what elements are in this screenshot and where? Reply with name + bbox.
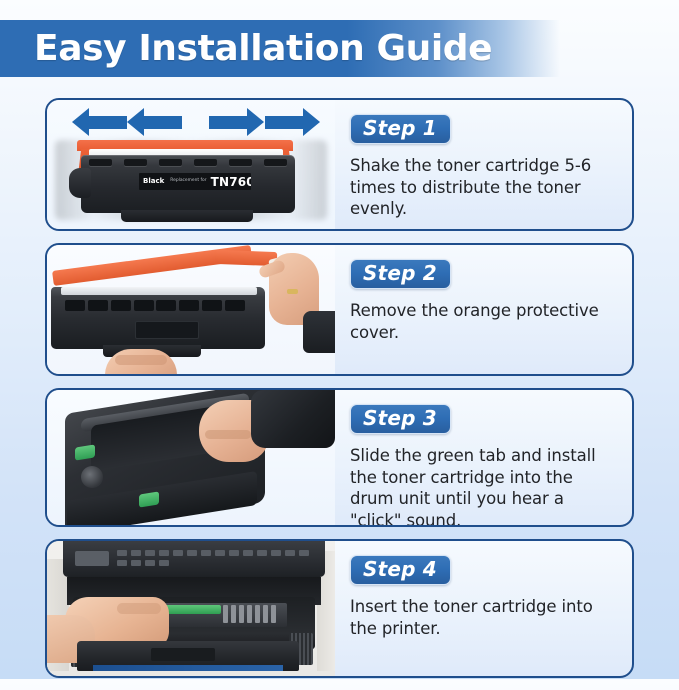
steps-list: Black Replacement for TN760 Step 1 Shake… (45, 98, 634, 690)
step-card-4: Step 4 Insert the toner cartridge into t… (45, 539, 634, 678)
step-3-body: Step 3 Slide the green tab and install t… (335, 390, 632, 525)
printer-keypad (117, 550, 313, 568)
step-4-photo (47, 541, 335, 676)
toner-cartridge-illustration: Black Replacement for TN760 (63, 138, 319, 222)
drum-gear (81, 466, 103, 488)
cartridge-label-model: TN760 (211, 176, 251, 188)
cartridge-end-cap (69, 168, 91, 198)
cartridge-body (51, 287, 265, 349)
cartridge-base (121, 210, 253, 222)
step-3-description: Slide the green tab and install the tone… (350, 445, 618, 527)
step-2-body: Step 2 Remove the orange protective cove… (335, 245, 632, 374)
arrow-left-icon (89, 116, 127, 129)
step-card-3: Step 3 Slide the green tab and install t… (45, 388, 634, 527)
arrow-left-icon (144, 116, 182, 129)
step-1-body: Step 1 Shake the toner cartridge 5-6 tim… (335, 100, 632, 229)
green-handle (165, 605, 221, 614)
sleeve (251, 390, 335, 448)
cartridge-white-roller (61, 287, 257, 295)
step-3-photo (47, 390, 335, 525)
step-card-1: Black Replacement for TN760 Step 1 Shake… (45, 98, 634, 231)
arrow-right-icon (209, 116, 247, 129)
page-title: Easy Installation Guide (0, 28, 492, 69)
step-1-photo: Black Replacement for TN760 (47, 100, 335, 229)
step-4-body: Step 4 Insert the toner cartridge into t… (335, 541, 632, 676)
step-4-badge: Step 4 (350, 555, 451, 585)
step-2-badge: Step 2 (350, 259, 451, 289)
step-card-2: Step 2 Remove the orange protective cove… (45, 243, 634, 376)
arrow-right-icon (265, 116, 303, 129)
printer-bottom-trim (93, 665, 283, 671)
cartridge-label-color: Black (143, 178, 164, 185)
cartridge-label: Black Replacement for TN760 (139, 173, 251, 190)
cartridge-label-replacement: Replacement for (170, 179, 206, 183)
cartridge-notches (89, 159, 287, 167)
header-banner: Easy Installation Guide (0, 20, 560, 77)
step-2-description: Remove the orange protective cover. (350, 300, 618, 343)
shake-arrows-group (47, 108, 335, 138)
sleeve (303, 311, 335, 353)
step-2-photo (47, 245, 335, 374)
cartridge-notches (65, 300, 245, 312)
cartridge-plate (135, 321, 199, 339)
cartridge-ribs (223, 605, 281, 623)
step-4-description: Insert the toner cartridge into the prin… (350, 596, 618, 639)
printer-display-screen (75, 551, 109, 566)
ring (287, 289, 298, 294)
step-1-description: Shake the toner cartridge 5-6 times to d… (350, 155, 618, 219)
step-3-badge: Step 3 (350, 404, 451, 434)
step-1-badge: Step 1 (350, 114, 451, 144)
